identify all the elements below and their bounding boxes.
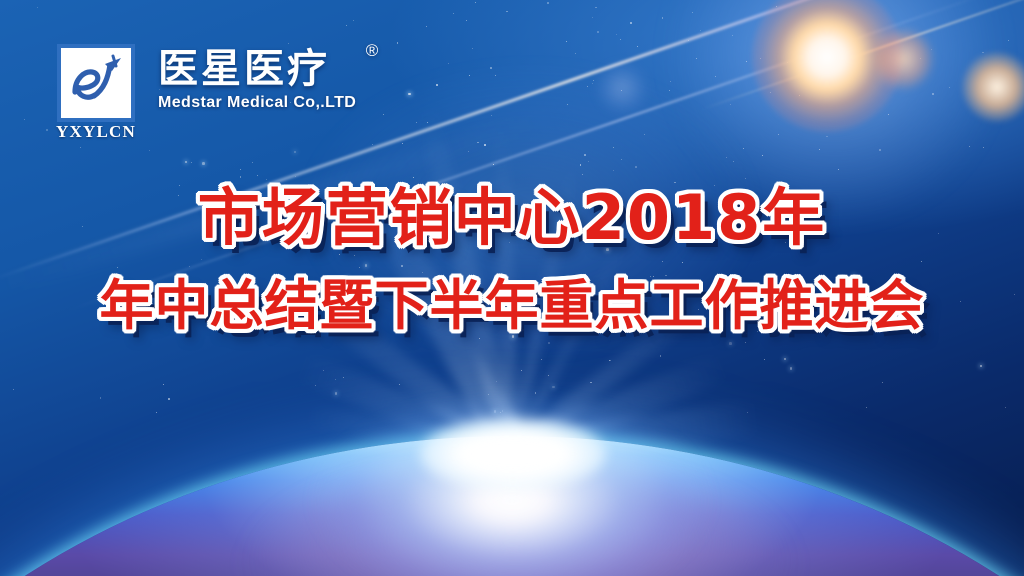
star — [853, 51, 854, 52]
star — [346, 25, 347, 26]
star — [613, 147, 614, 148]
star — [888, 114, 889, 115]
headline-line-2: 年中总结暨下半年重点工作推进会 — [0, 278, 1024, 334]
star — [743, 148, 744, 149]
star — [776, 6, 777, 7]
star — [479, 338, 480, 339]
star — [484, 144, 486, 146]
star — [938, 233, 939, 234]
star — [366, 192, 367, 193]
star — [600, 311, 601, 312]
star — [240, 176, 242, 178]
star — [700, 30, 701, 31]
star — [747, 412, 748, 413]
company-name-cn: 医星医疗 — [158, 48, 356, 90]
star — [969, 146, 970, 147]
star — [490, 67, 492, 69]
star — [421, 197, 423, 199]
star — [592, 17, 593, 18]
star — [422, 272, 423, 273]
star — [152, 303, 153, 304]
star — [790, 367, 793, 370]
star — [665, 275, 667, 277]
star — [168, 398, 170, 400]
star — [587, 86, 588, 87]
star — [715, 314, 716, 315]
star — [306, 329, 307, 330]
star — [469, 75, 470, 76]
star — [82, 226, 83, 227]
star — [682, 262, 683, 263]
earth-horizon — [0, 436, 1024, 576]
star — [500, 412, 501, 413]
star — [343, 377, 344, 378]
star — [882, 382, 883, 383]
star — [37, 7, 38, 8]
star — [201, 259, 202, 260]
star — [257, 175, 258, 176]
star — [592, 83, 594, 85]
star — [1008, 40, 1009, 41]
star — [480, 295, 482, 297]
star — [371, 216, 373, 218]
star — [1005, 407, 1006, 408]
star — [621, 159, 623, 161]
star — [662, 17, 664, 19]
registered-trademark-icon: ® — [366, 42, 379, 59]
star — [593, 80, 594, 81]
star — [359, 267, 360, 268]
star — [541, 359, 542, 360]
star — [784, 358, 787, 361]
star — [493, 164, 494, 165]
star — [189, 266, 190, 267]
star — [426, 26, 427, 27]
star — [746, 333, 747, 334]
star — [323, 370, 324, 371]
star — [353, 295, 354, 296]
star — [491, 185, 492, 186]
star — [621, 90, 622, 91]
medstar-emblem-icon — [57, 44, 135, 122]
star — [417, 305, 419, 307]
star — [495, 75, 497, 77]
star — [372, 144, 373, 145]
star — [185, 161, 188, 164]
star — [521, 370, 522, 371]
lens-flare-halo — [670, 0, 1000, 220]
star — [644, 134, 645, 135]
star — [552, 386, 555, 389]
star — [982, 52, 984, 54]
star — [360, 215, 362, 217]
star — [808, 305, 810, 307]
star — [729, 342, 732, 345]
star — [387, 283, 388, 284]
star — [732, 35, 733, 36]
star — [375, 282, 377, 284]
star — [472, 48, 473, 49]
star — [314, 234, 315, 235]
star — [620, 39, 621, 40]
star — [191, 162, 192, 163]
nebula-cloud — [300, 60, 760, 360]
star — [511, 315, 512, 316]
star — [595, 7, 597, 9]
star — [518, 330, 519, 331]
star — [609, 360, 611, 362]
lens-flare-streak-primary — [0, 0, 1024, 281]
star — [547, 2, 549, 4]
star — [450, 214, 451, 215]
star — [932, 93, 934, 95]
star — [582, 174, 583, 175]
star — [584, 154, 586, 156]
star — [512, 335, 515, 338]
star — [335, 379, 336, 380]
logo-mark-group: YXYLCN — [48, 44, 144, 140]
star — [566, 41, 567, 42]
star — [662, 261, 663, 262]
star — [613, 170, 614, 171]
star — [346, 277, 349, 280]
star — [733, 161, 734, 162]
star — [335, 392, 338, 395]
star — [635, 166, 637, 168]
star — [650, 276, 651, 277]
lens-flare-streak-short — [701, 0, 1024, 110]
star — [278, 223, 279, 224]
star — [799, 95, 800, 96]
star — [24, 119, 25, 120]
star — [715, 286, 716, 287]
star — [770, 92, 771, 93]
star — [597, 31, 599, 33]
light-ray — [356, 179, 527, 460]
star — [261, 205, 264, 208]
star — [233, 291, 235, 293]
star — [698, 309, 699, 310]
star — [748, 210, 750, 212]
star — [13, 389, 14, 390]
event-banner: YXYLCN 医星医疗 ® Medstar Medical Co,.LTD 市场… — [0, 0, 1024, 576]
star — [580, 164, 582, 166]
star — [726, 157, 727, 158]
lens-flare-wide-streak — [0, 114, 540, 291]
lens-flare-orb-secondary — [872, 28, 934, 90]
star — [746, 61, 747, 62]
star — [304, 215, 305, 216]
star — [980, 365, 983, 368]
star — [692, 12, 693, 13]
star — [219, 286, 220, 287]
lens-flare-orb-tertiary — [962, 52, 1024, 122]
star — [590, 382, 592, 384]
star — [708, 290, 710, 292]
star — [1014, 294, 1015, 295]
star — [240, 169, 241, 170]
star — [819, 149, 820, 150]
star — [745, 342, 746, 343]
star — [714, 185, 715, 186]
star — [344, 301, 345, 302]
star — [838, 169, 839, 170]
star — [606, 248, 609, 251]
star — [866, 407, 867, 408]
star — [509, 242, 510, 243]
star — [362, 328, 363, 329]
star — [294, 151, 297, 154]
star — [496, 381, 497, 382]
star — [696, 58, 697, 59]
star — [448, 63, 449, 64]
star — [397, 42, 399, 44]
star — [764, 359, 765, 360]
star — [353, 20, 354, 21]
star — [156, 412, 157, 413]
star — [383, 206, 384, 207]
star — [853, 274, 856, 277]
star — [522, 329, 524, 331]
star — [399, 384, 400, 385]
light-ray — [492, 122, 520, 452]
star — [588, 161, 589, 162]
star — [179, 185, 181, 187]
star — [778, 134, 779, 135]
star — [466, 20, 467, 21]
star — [315, 385, 316, 386]
star — [538, 308, 539, 309]
star — [365, 264, 368, 267]
star — [149, 150, 150, 151]
star — [669, 90, 670, 91]
star — [688, 40, 689, 41]
star — [546, 282, 547, 283]
star — [477, 142, 479, 144]
star — [626, 297, 627, 298]
star — [920, 58, 921, 59]
star — [616, 34, 617, 35]
star — [800, 274, 801, 275]
star — [960, 301, 961, 302]
star — [535, 392, 537, 394]
star — [931, 49, 932, 50]
star — [416, 122, 417, 123]
star — [637, 46, 638, 47]
star — [745, 178, 746, 179]
star — [757, 331, 758, 332]
star — [491, 115, 492, 116]
star — [670, 81, 671, 82]
star — [785, 242, 786, 243]
company-logo: YXYLCN 医星医疗 ® Medstar Medical Co,.LTD — [48, 44, 356, 140]
star — [653, 276, 654, 277]
star — [178, 195, 180, 197]
light-ray — [506, 284, 723, 460]
star — [548, 375, 549, 376]
star — [117, 267, 118, 268]
star — [983, 147, 984, 148]
star — [575, 53, 576, 54]
light-ray — [414, 100, 522, 455]
star — [730, 104, 731, 105]
star — [513, 294, 514, 295]
star — [405, 191, 406, 192]
headline-line-1: 市场营销中心2018年 — [0, 186, 1024, 250]
star — [468, 151, 469, 152]
star — [488, 394, 489, 395]
star — [567, 104, 568, 105]
star — [408, 93, 411, 96]
light-ray — [506, 157, 580, 453]
star — [354, 255, 355, 256]
star — [339, 254, 340, 255]
star — [163, 384, 164, 385]
star — [762, 155, 763, 156]
lens-flare-orb-faint — [596, 62, 648, 114]
star — [787, 62, 788, 63]
star — [879, 149, 881, 151]
star — [436, 84, 438, 86]
star — [502, 410, 504, 412]
star — [609, 360, 610, 361]
star — [760, 58, 761, 59]
star — [169, 308, 170, 309]
star — [252, 162, 253, 163]
star — [715, 76, 716, 77]
star — [266, 179, 267, 180]
star — [413, 177, 415, 179]
star — [202, 162, 205, 165]
page-title: 市场营销中心2018年 年中总结暨下半年重点工作推进会 — [0, 186, 1024, 335]
star — [826, 136, 828, 138]
light-ray — [508, 229, 634, 454]
company-name-en: Medstar Medical Co,.LTD — [158, 94, 356, 112]
star — [315, 287, 316, 288]
star — [506, 11, 508, 13]
star — [295, 176, 296, 177]
star — [674, 182, 676, 184]
star — [389, 191, 390, 192]
star — [548, 342, 550, 344]
star — [383, 114, 384, 115]
star — [80, 147, 81, 148]
star — [427, 122, 428, 123]
star — [402, 143, 403, 144]
star — [949, 87, 950, 88]
star — [921, 261, 922, 262]
star — [100, 397, 102, 399]
star — [630, 22, 632, 24]
lens-flare-core — [752, 0, 902, 132]
star — [494, 410, 497, 413]
star — [660, 355, 662, 357]
logo-text-group: 医星医疗 ® Medstar Medical Co,.LTD — [158, 44, 356, 112]
logo-acronym: YXYLCN — [56, 123, 136, 140]
star — [401, 265, 403, 267]
star — [475, 2, 476, 3]
star — [453, 13, 454, 14]
